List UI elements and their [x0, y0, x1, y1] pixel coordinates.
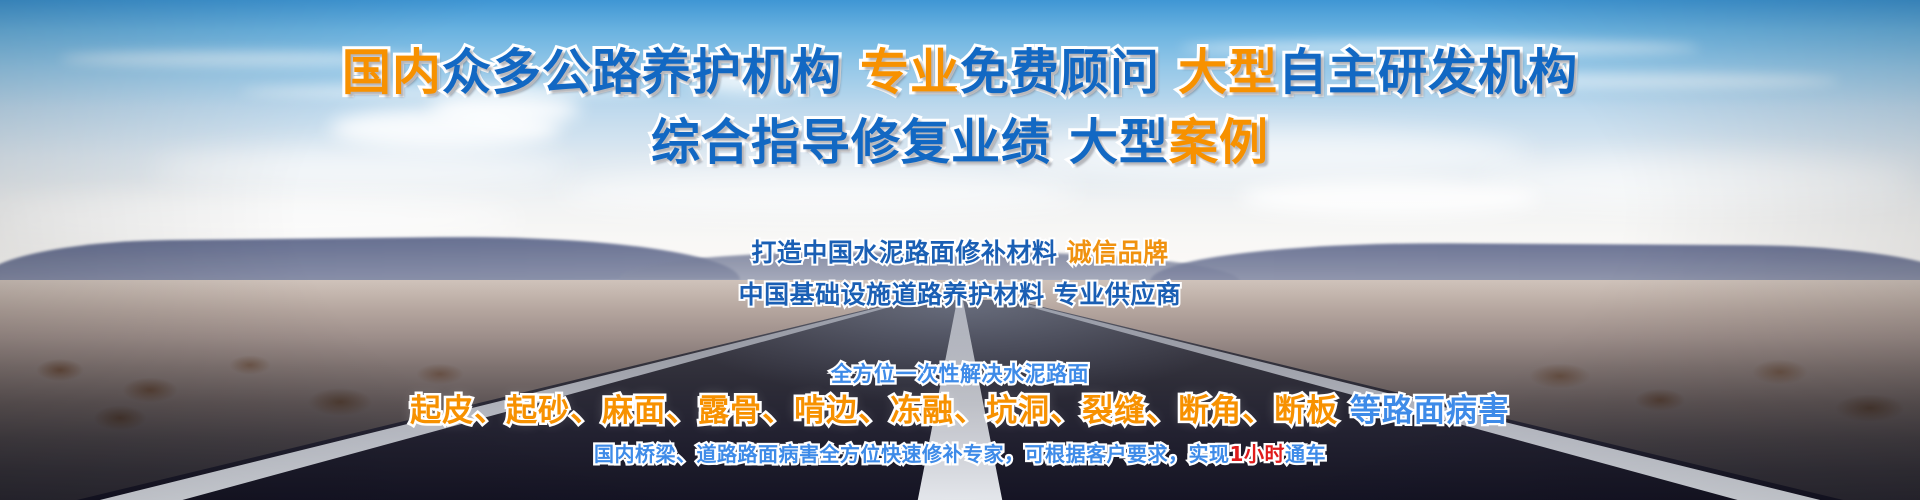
- subhead-line-2: 中国基础设施道路养护材料 专业供应商: [0, 282, 1920, 307]
- headline-1-seg-3: 免费顾问: [960, 44, 1160, 101]
- headline-1-seg-0: 国内: [342, 44, 442, 101]
- banner-copy: 国内众多公路养护机构 专业免费顾问 大型自主研发机构 综合指导修复业绩 大型案例…: [0, 0, 1920, 500]
- bottom-line-2: 起皮、起砂、麻面、露骨、啃边、冻融、坑洞、裂缝、断角、断板 等路面病害: [0, 396, 1920, 427]
- subhead-2-seg-0: 中国基础设施道路养护材料: [739, 280, 1045, 309]
- bottom-3-seg-0: 国内桥梁、道路路面病害全方位快速修补专家，可根据客户要求，实现: [594, 442, 1230, 466]
- headline-1-seg-1: 众多公路养护机构: [442, 44, 842, 101]
- subhead-line-1: 打造中国水泥路面修补材料 诚信品牌: [0, 240, 1920, 265]
- headline-1-gap-2: [1160, 44, 1178, 101]
- headline-1-gap-1: [842, 44, 860, 101]
- headline-line-2: 综合指导修复业绩 大型案例: [0, 118, 1920, 167]
- headline-line-1: 国内众多公路养护机构 专业免费顾问 大型自主研发机构: [0, 48, 1920, 97]
- subhead-2-gap-1: [1045, 280, 1054, 309]
- bottom-2-defects: 起皮、起砂、麻面、露骨、啃边、冻融、坑洞、裂缝、断角、断板: [410, 393, 1338, 429]
- bottom-3-highlight: 1小时: [1230, 442, 1285, 466]
- bottom-line-3: 国内桥梁、道路路面病害全方位快速修补专家，可根据客户要求，实现1小时通车: [0, 444, 1920, 464]
- headline-2-seg-1: 大型: [1069, 114, 1169, 171]
- headline-1-seg-4: 大型: [1178, 44, 1278, 101]
- bottom-2-suffix: 等路面病害: [1350, 393, 1510, 429]
- bottom-3-seg-2: 通车: [1285, 442, 1326, 466]
- headline-2-gap-1: [1051, 114, 1069, 171]
- subhead-1-seg-0: 打造中国水泥路面修补材料: [751, 238, 1057, 267]
- bottom-1-seg-0: 全方位一次性解决水泥路面: [831, 362, 1089, 386]
- bottom-line-1: 全方位一次性解决水泥路面: [0, 364, 1920, 385]
- subhead-2-seg-1: 专业供应商: [1054, 280, 1182, 309]
- headline-2-seg-0: 综合指导修复业绩: [651, 114, 1051, 171]
- headline-1-seg-5: 自主研发机构: [1278, 44, 1578, 101]
- subhead-1-gap-1: [1057, 238, 1066, 267]
- promo-banner: 国内众多公路养护机构 专业免费顾问 大型自主研发机构 综合指导修复业绩 大型案例…: [0, 0, 1920, 500]
- headline-1-seg-2: 专业: [860, 44, 960, 101]
- bottom-2-gap-1: [1338, 393, 1350, 429]
- headline-2-seg-2: 案例: [1169, 114, 1269, 171]
- subhead-1-seg-1: 诚信品牌: [1067, 238, 1169, 267]
